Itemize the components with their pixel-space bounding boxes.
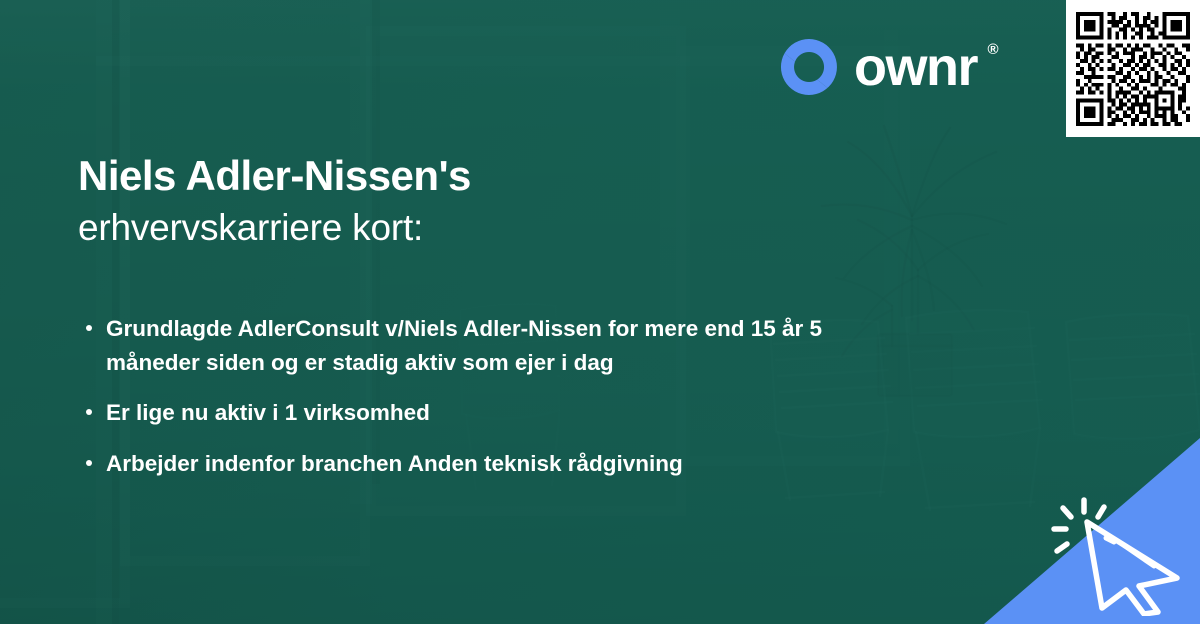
registered-trademark-symbol: ® bbox=[987, 42, 997, 57]
ownr-logo[interactable]: ownr® bbox=[778, 36, 997, 98]
list-item: Grundlagde AdlerConsult v/Niels Adler-Ni… bbox=[86, 312, 916, 380]
list-item: Er lige nu aktiv i 1 virksomhed bbox=[86, 396, 916, 430]
business-card-banner: ownr® bbox=[0, 0, 1200, 624]
bullet-dot-icon bbox=[86, 325, 92, 331]
list-item: Arbejder indenfor branchen Anden teknisk… bbox=[86, 447, 916, 481]
bullet-dot-icon bbox=[86, 460, 92, 466]
list-item-text: Grundlagde AdlerConsult v/Niels Adler-Ni… bbox=[106, 312, 916, 380]
click-cursor-icon bbox=[1040, 486, 1188, 616]
ownr-wordmark: ownr® bbox=[854, 40, 997, 94]
list-item-text: Er lige nu aktiv i 1 virksomhed bbox=[106, 396, 916, 430]
page-title: Niels Adler-Nissen's bbox=[78, 150, 958, 201]
headline-block: Niels Adler-Nissen's erhvervskarriere ko… bbox=[78, 150, 958, 251]
ownr-wordmark-text: ownr bbox=[854, 37, 977, 97]
qr-code-icon bbox=[1076, 12, 1190, 126]
ownr-circle-split-logo-icon bbox=[778, 36, 840, 98]
bullet-dot-icon bbox=[86, 409, 92, 415]
career-facts-list: Grundlagde AdlerConsult v/Niels Adler-Ni… bbox=[86, 312, 916, 481]
qr-code-panel[interactable] bbox=[1066, 0, 1200, 137]
page-subtitle: erhvervskarriere kort: bbox=[78, 205, 958, 251]
list-item-text: Arbejder indenfor branchen Anden teknisk… bbox=[106, 447, 916, 481]
